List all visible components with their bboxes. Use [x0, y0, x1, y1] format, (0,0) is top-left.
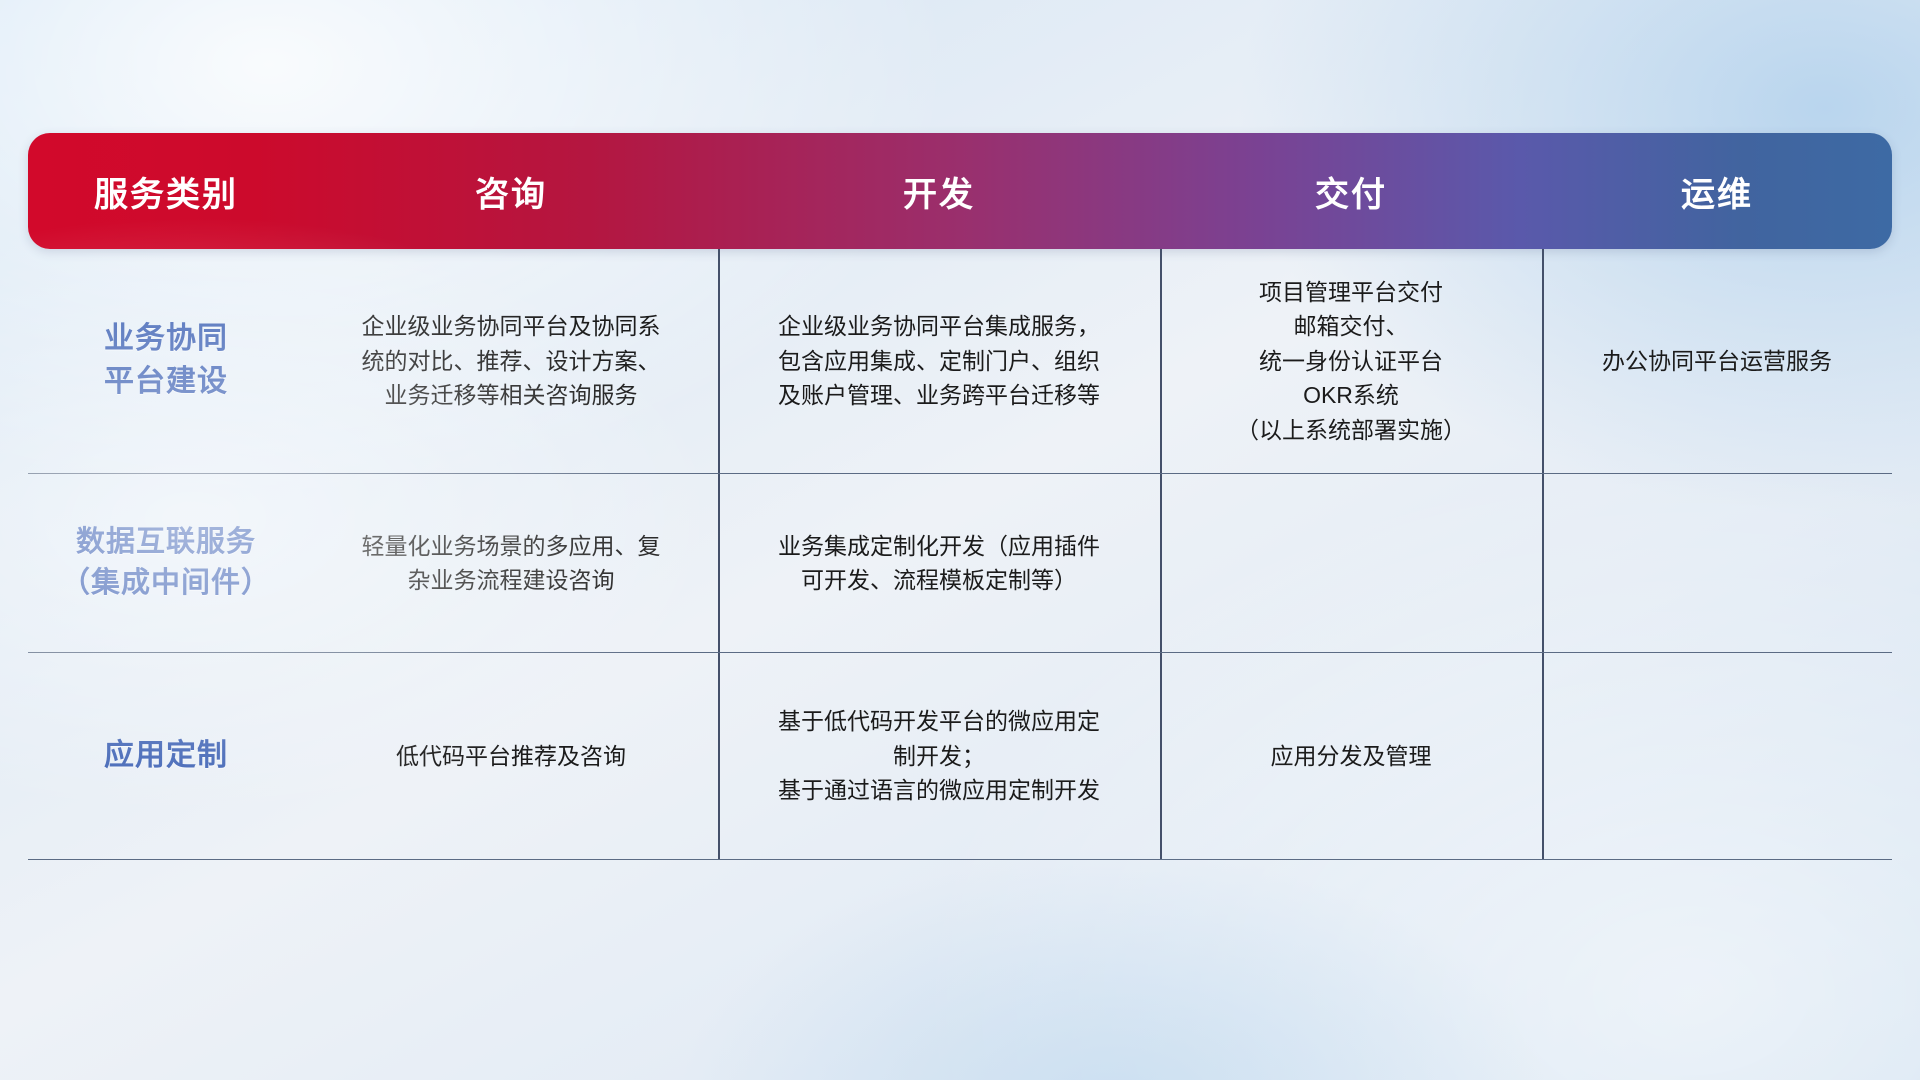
grid-divider-vertical [1160, 653, 1162, 859]
cell-r3-ops [1542, 653, 1892, 859]
column-header-category: 服务类别 [28, 133, 304, 249]
grid-divider-vertical [1160, 249, 1162, 473]
cell-r2-develop: 业务集成定制化开发（应用插件 可开发、流程模板定制等） [718, 474, 1160, 652]
column-header-consult: 咨询 [304, 133, 718, 249]
grid-divider-vertical [1542, 653, 1544, 859]
cell-r3-consult: 低代码平台推荐及咨询 [304, 653, 718, 859]
cell-r1-develop: 企业级业务协同平台集成服务， 包含应用集成、定制门户、组织 及账户管理、业务跨平… [718, 249, 1160, 473]
grid-divider-vertical [718, 249, 720, 473]
table-row: 数据互联服务 （集成中间件） 轻量化业务场景的多应用、复 杂业务流程建设咨询 业… [28, 474, 1892, 653]
cell-r2-deliver [1160, 474, 1542, 652]
table-row: 应用定制 低代码平台推荐及咨询 基于低代码开发平台的微应用定 制开发； 基于通过… [28, 653, 1892, 860]
table-row: 业务协同 平台建设 企业级业务协同平台及协同系 统的对比、推荐、设计方案、 业务… [28, 249, 1892, 474]
row-label-app-customization: 应用定制 [28, 653, 304, 859]
cell-r2-consult: 轻量化业务场景的多应用、复 杂业务流程建设咨询 [304, 474, 718, 652]
column-header-develop: 开发 [718, 133, 1160, 249]
cell-r1-consult: 企业级业务协同平台及协同系 统的对比、推荐、设计方案、 业务迁移等相关咨询服务 [304, 249, 718, 473]
row-label-data-integration: 数据互联服务 （集成中间件） [28, 474, 304, 652]
grid-divider-vertical [1160, 474, 1162, 652]
cell-r3-develop: 基于低代码开发平台的微应用定 制开发； 基于通过语言的微应用定制开发 [718, 653, 1160, 859]
service-matrix-table: 服务类别 咨询 开发 交付 运维 业务协同 平台建设 企业级业务协同平台及协同系… [28, 133, 1892, 860]
column-header-deliver: 交付 [1160, 133, 1542, 249]
slide-canvas: 服务类别 咨询 开发 交付 运维 业务协同 平台建设 企业级业务协同平台及协同系… [0, 0, 1920, 1080]
row-label-business-collaboration: 业务协同 平台建设 [28, 249, 304, 473]
grid-divider-vertical [718, 474, 720, 652]
cell-r1-deliver: 项目管理平台交付 邮箱交付、 统一身份认证平台 OKR系统 （以上系统部署实施） [1160, 249, 1542, 473]
cell-r3-deliver: 应用分发及管理 [1160, 653, 1542, 859]
grid-divider-vertical [1542, 474, 1544, 652]
table-header-row: 服务类别 咨询 开发 交付 运维 [28, 133, 1892, 249]
table-body: 业务协同 平台建设 企业级业务协同平台及协同系 统的对比、推荐、设计方案、 业务… [28, 249, 1892, 860]
grid-divider-vertical [1542, 249, 1544, 473]
grid-divider-vertical [718, 653, 720, 859]
column-header-ops: 运维 [1542, 133, 1892, 249]
cell-r1-ops: 办公协同平台运营服务 [1542, 249, 1892, 473]
cell-r2-ops [1542, 474, 1892, 652]
